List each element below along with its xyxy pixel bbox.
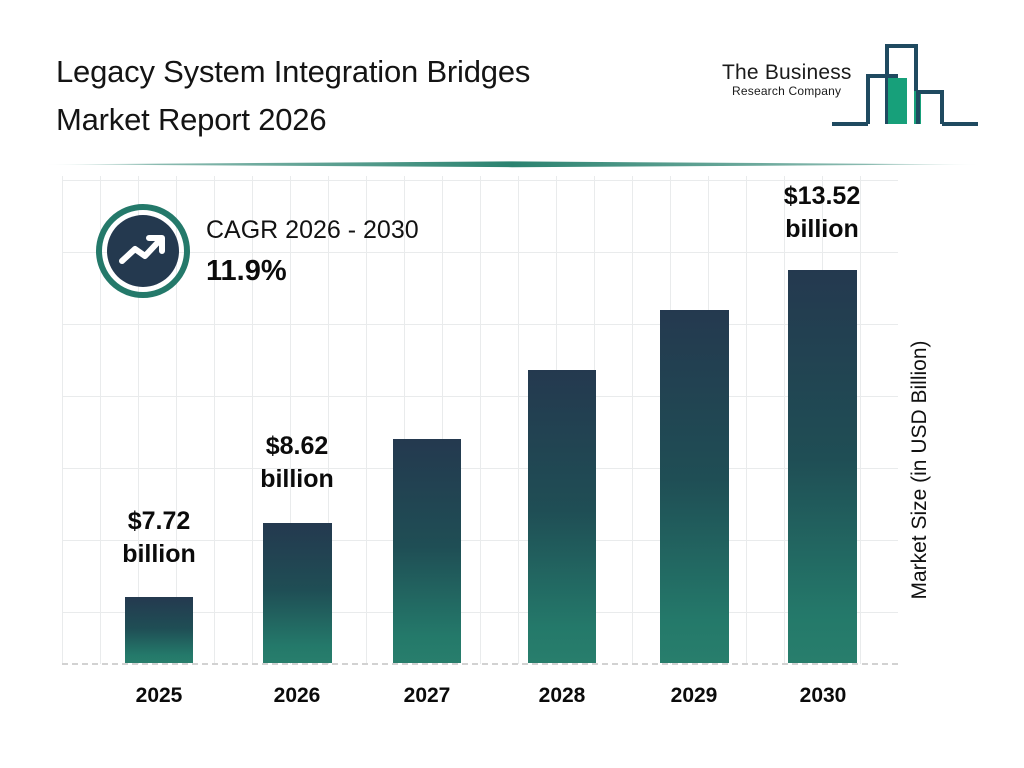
trending-up-icon	[96, 204, 190, 298]
y-axis-title-text: Market Size (in USD Billion)	[908, 290, 932, 650]
page-title: Legacy System Integration Bridges Market…	[56, 48, 696, 144]
bar-chart-skyline-logo-icon	[830, 36, 980, 137]
bar-2025[interactable]	[125, 597, 193, 663]
y-axis-title: Market Size (in USD Billion)	[900, 280, 940, 680]
x-axis-baseline	[62, 663, 898, 665]
bar-value-label-2026: $8.62 billion	[222, 430, 372, 496]
x-axis-label-2029: 2029	[644, 684, 744, 708]
x-axis-label-2026: 2026	[247, 684, 347, 708]
bar-2029[interactable]	[660, 310, 729, 663]
cagr-value: 11.9%	[206, 250, 419, 292]
bar-value-label-2030: $13.52 billion	[747, 180, 897, 246]
x-axis-label-2027: 2027	[377, 684, 477, 708]
market-size-bar-chart: $7.72 billion $8.62 billion $13.52 billi…	[0, 160, 1024, 768]
cagr-text-block: CAGR 2026 - 2030 11.9%	[206, 214, 419, 292]
bar-value-label-2025: $7.72 billion	[84, 505, 234, 571]
bar-2030[interactable]	[788, 270, 857, 663]
cagr-period-label: CAGR 2026 - 2030	[206, 214, 419, 246]
x-axis-label-2028: 2028	[512, 684, 612, 708]
company-logo: The Business Research Company	[722, 36, 984, 136]
x-axis-label-2025: 2025	[109, 684, 209, 708]
bar-2028[interactable]	[528, 370, 596, 663]
bar-2027[interactable]	[393, 439, 461, 663]
bar-2026[interactable]	[263, 523, 332, 663]
cagr-callout: CAGR 2026 - 2030 11.9%	[96, 204, 516, 309]
x-axis-label-2030: 2030	[773, 684, 873, 708]
report-header: Legacy System Integration Bridges Market…	[0, 0, 1024, 160]
